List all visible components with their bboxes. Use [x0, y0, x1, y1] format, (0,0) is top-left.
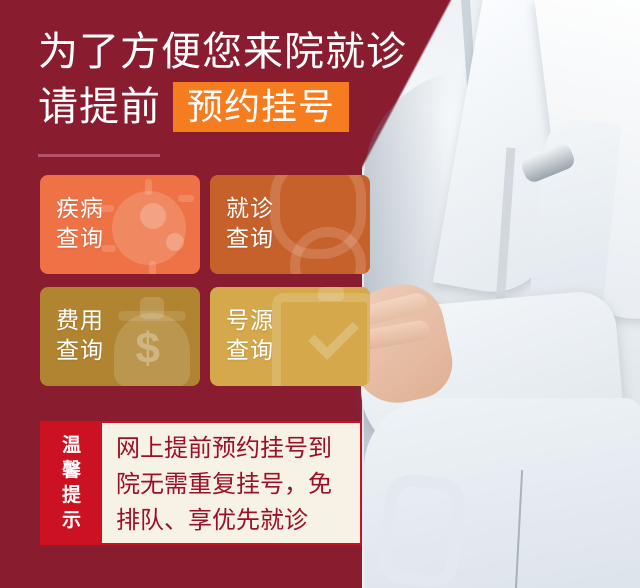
headline-divider [38, 154, 160, 157]
card-label-line-1: 号源 [226, 305, 274, 335]
card-label-line-1: 费用 [56, 305, 104, 335]
card-label: 费用 查询 [56, 305, 104, 365]
headline-line-1: 为了方便您来院就诊 [38, 28, 388, 76]
card-disease-query[interactable]: 疾病 查询 [40, 175, 200, 274]
card-label-line-1: 疾病 [56, 193, 104, 223]
headline-line-2: 请提前 预约挂号 [38, 82, 388, 132]
headline-line-2-text: 请提前 [38, 82, 161, 132]
card-label-line-2: 查询 [226, 335, 274, 365]
notice-line: 院无需重复挂号，免 [116, 467, 350, 503]
card-label-line-2: 查询 [56, 335, 104, 365]
notice-line: 网上提前预约挂号到 [116, 431, 350, 467]
quick-link-grid: 疾病 查询 就诊 查询 $ 费用 查询 [40, 175, 362, 386]
notice-tag: 温馨提示 [42, 423, 102, 543]
promo-banner: 为了方便您来院就诊 请提前 预约挂号 疾病 查询 [0, 0, 640, 588]
notice-tag-text: 温馨提示 [62, 433, 82, 533]
card-fee-query[interactable]: $ 费用 查询 [40, 287, 200, 386]
notice-line: 排队、享优先就诊 [116, 503, 350, 539]
card-label: 号源 查询 [226, 305, 274, 365]
card-label-line-2: 查询 [56, 223, 104, 253]
currency-symbol: $ [136, 327, 160, 371]
card-label: 疾病 查询 [56, 193, 104, 253]
card-label-line-1: 就诊 [226, 193, 274, 223]
notice-body: 网上提前预约挂号到 院无需重复挂号，免 排队、享优先就诊 [102, 423, 360, 543]
card-label-line-2: 查询 [226, 223, 274, 253]
card-label: 就诊 查询 [226, 193, 274, 253]
card-slot-query[interactable]: 号源 查询 [210, 287, 370, 386]
headline: 为了方便您来院就诊 请提前 预约挂号 [38, 28, 388, 132]
coat-belt-loop [376, 472, 467, 588]
appointment-badge[interactable]: 预约挂号 [173, 82, 349, 132]
card-visit-query[interactable]: 就诊 查询 [210, 175, 370, 274]
notice-box: 温馨提示 网上提前预约挂号到 院无需重复挂号，免 排队、享优先就诊 [40, 421, 362, 545]
